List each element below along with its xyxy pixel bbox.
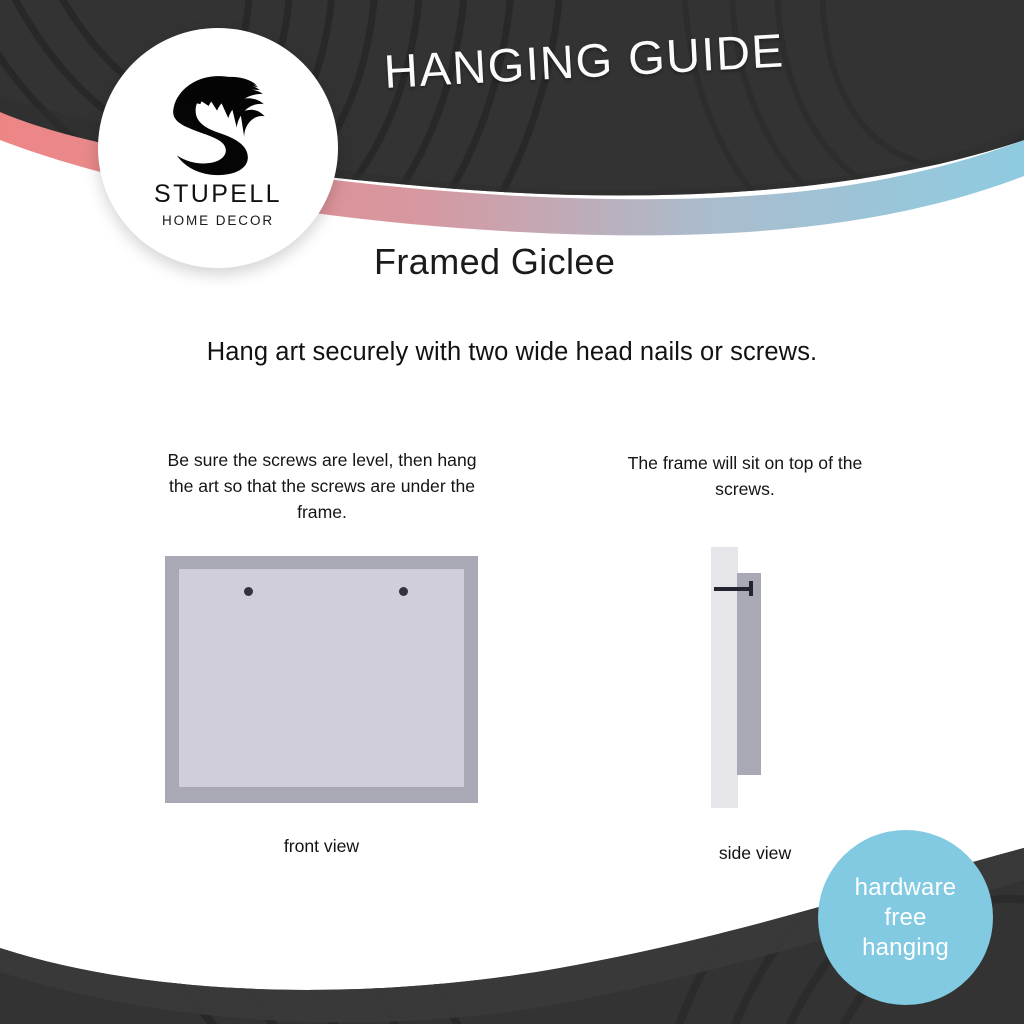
side-view-diagram: [700, 540, 810, 820]
front-view-label: front view: [165, 836, 478, 857]
side-view-frame: [737, 573, 761, 775]
page-title: HANGING GUIDE: [383, 22, 786, 99]
front-view-diagram: [165, 556, 478, 803]
brand-wordmark: STUPELL: [154, 180, 282, 209]
side-view-label: side view: [675, 843, 835, 864]
screw-dot-left-icon: [244, 587, 253, 596]
brand-logo-badge: STUPELL HOME DECOR: [98, 28, 338, 268]
brand-subtitle: HOME DECOR: [162, 213, 274, 228]
nail-shaft-icon: [714, 587, 752, 591]
side-view-caption: The frame will sit on top of the screws.: [600, 450, 890, 502]
hanging-guide-page: STUPELL HOME DECOR HANGING GUIDE Framed …: [0, 0, 1024, 1024]
badge-line-1: hardware: [855, 873, 957, 903]
stupell-swoosh-icon: [162, 64, 274, 176]
badge-line-3: hanging: [862, 933, 949, 963]
product-type-label: Framed Giclee: [374, 241, 615, 283]
main-instruction-text: Hang art securely with two wide head nai…: [0, 338, 1024, 367]
screw-dot-right-icon: [399, 587, 408, 596]
front-view-mat: [179, 569, 464, 787]
badge-line-2: free: [884, 903, 926, 933]
hardware-free-hanging-badge: hardware free hanging: [818, 830, 993, 1005]
front-view-caption: Be sure the screws are level, then hang …: [155, 447, 489, 525]
nail-head-icon: [749, 581, 753, 596]
